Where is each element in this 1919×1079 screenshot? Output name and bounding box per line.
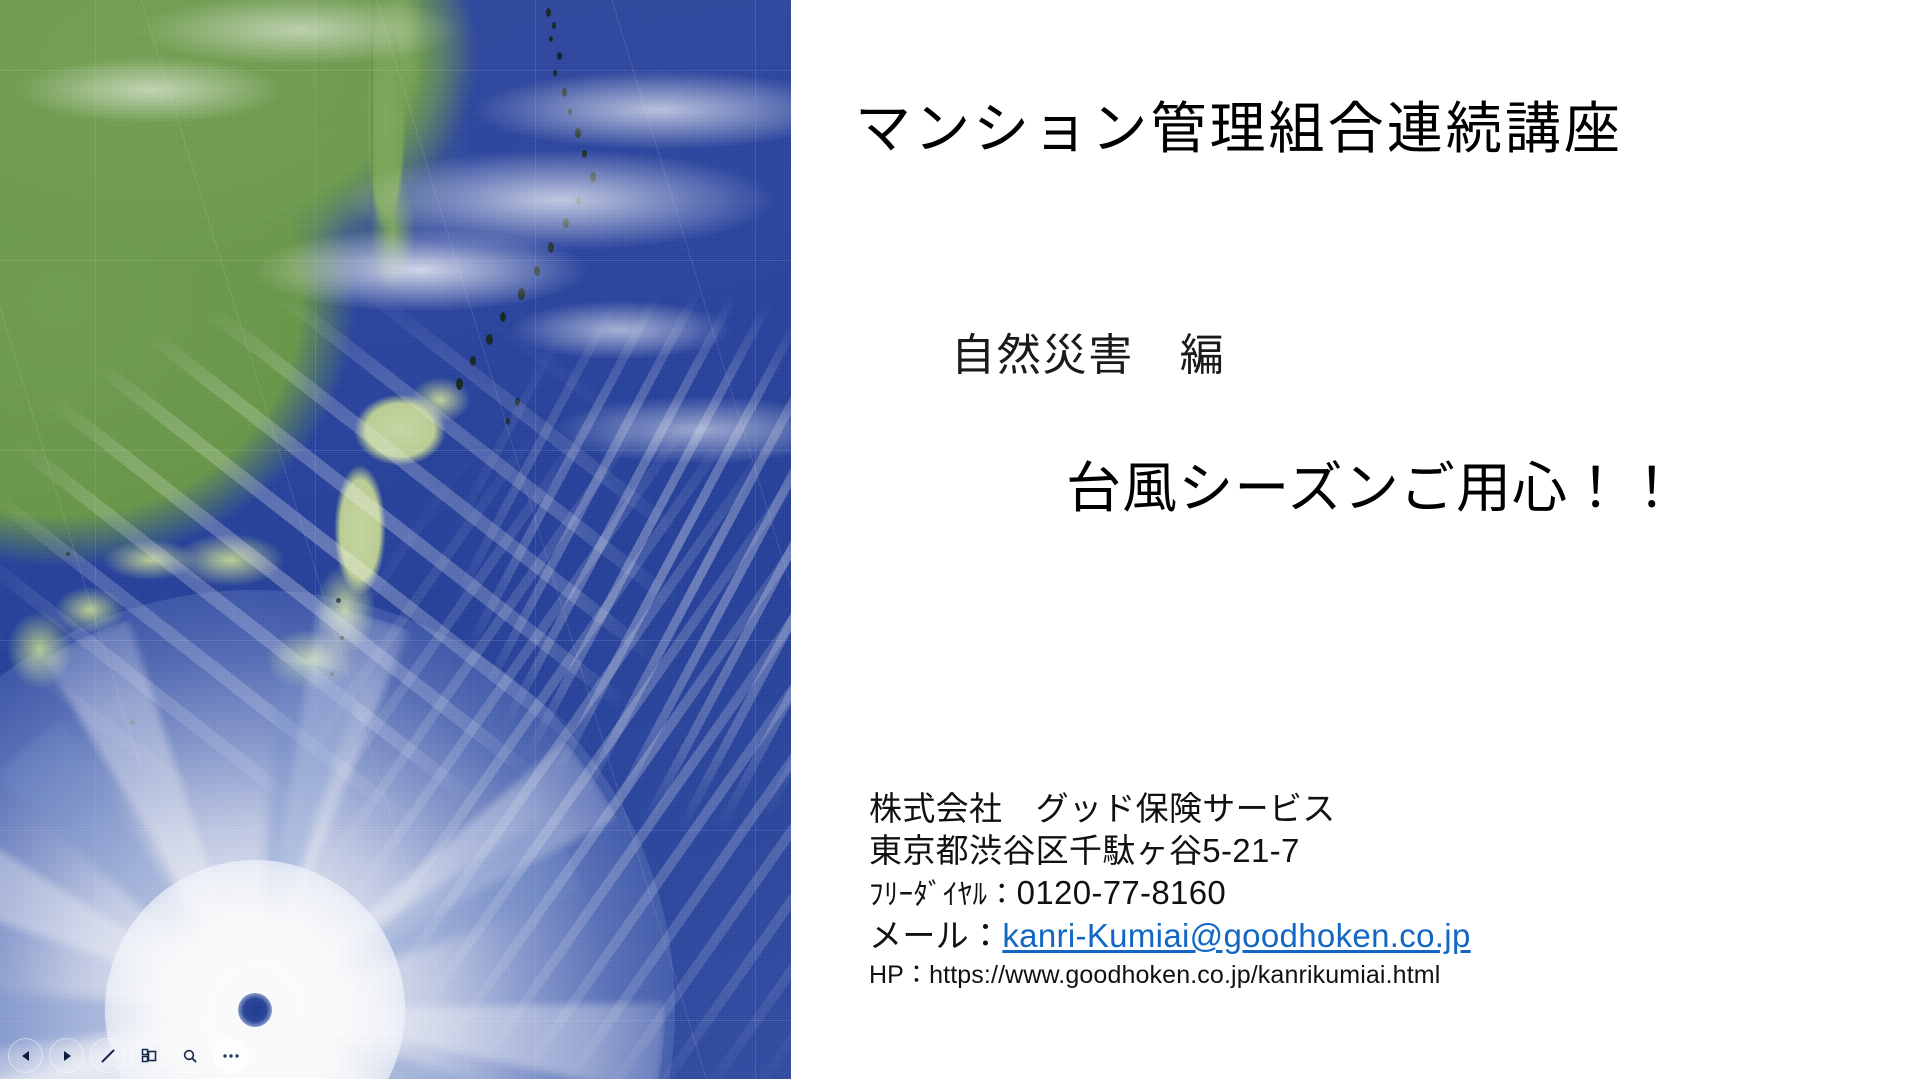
- email-link[interactable]: kanri-Kumiai@goodhoken.co.jp: [1002, 917, 1470, 954]
- company-email: メール：kanri-Kumiai@goodhoken.co.jp: [869, 915, 1889, 957]
- more-options-button[interactable]: [213, 1038, 248, 1073]
- zoom-in-button[interactable]: [172, 1038, 207, 1073]
- triangle-left-icon: [19, 1049, 33, 1063]
- presenter-toolbar[interactable]: [8, 1038, 248, 1073]
- slide-headline-text: 台風シーズンご用心！！: [1066, 455, 1906, 521]
- homepage-url[interactable]: https://www.goodhoken.co.jp/kanrikumiai.…: [929, 961, 1440, 989]
- grid-slides-icon: [140, 1047, 158, 1065]
- next-slide-button[interactable]: [49, 1038, 84, 1073]
- company-homepage: HP：https://www.goodhoken.co.jp/kanrikumi…: [869, 959, 1889, 992]
- homepage-label: HP：: [869, 961, 929, 989]
- telephone-number: 0120-77-8160: [1017, 874, 1226, 911]
- slide-subtitle: 自然災害 編: [951, 330, 1851, 383]
- slide-headline: 台風シーズンご用心！！: [1066, 455, 1906, 521]
- typhoon-satellite-image: [0, 0, 791, 1079]
- pen-icon: [99, 1047, 117, 1065]
- pen-tools-button[interactable]: [90, 1038, 125, 1073]
- telephone-label: ﾌﾘｰﾀﾞｲﾔﾙ：: [869, 879, 1017, 911]
- email-label: メール：: [869, 917, 1002, 954]
- slide-subtitle-text: 自然災害 編: [951, 330, 1851, 383]
- all-slides-button[interactable]: [131, 1038, 166, 1073]
- triangle-right-icon: [60, 1049, 74, 1063]
- previous-slide-button[interactable]: [8, 1038, 43, 1073]
- image-noise-texture: [0, 0, 791, 1079]
- slide-title: マンション管理組合連続講座: [855, 96, 1885, 162]
- slide-text-content: マンション管理組合連続講座 自然災害 編 台風シーズンご用心！！ 株式会社 グッ…: [791, 0, 1919, 1079]
- magnifier-icon: [181, 1047, 199, 1065]
- contact-block: 株式会社 グッド保険サービス 東京都渋谷区千駄ヶ谷5-21-7 ﾌﾘｰﾀﾞｲﾔﾙ…: [869, 788, 1889, 991]
- presentation-slide: マンション管理組合連続講座 自然災害 編 台風シーズンご用心！！ 株式会社 グッ…: [0, 0, 1919, 1079]
- company-address: 東京都渋谷区千駄ヶ谷5-21-7: [869, 830, 1889, 872]
- slide-title-text: マンション管理組合連続講座: [855, 96, 1885, 162]
- ellipsis-icon: [221, 1052, 241, 1060]
- company-telephone: ﾌﾘｰﾀﾞｲﾔﾙ：0120-77-8160: [869, 872, 1889, 914]
- company-name: 株式会社 グッド保険サービス: [869, 788, 1889, 830]
